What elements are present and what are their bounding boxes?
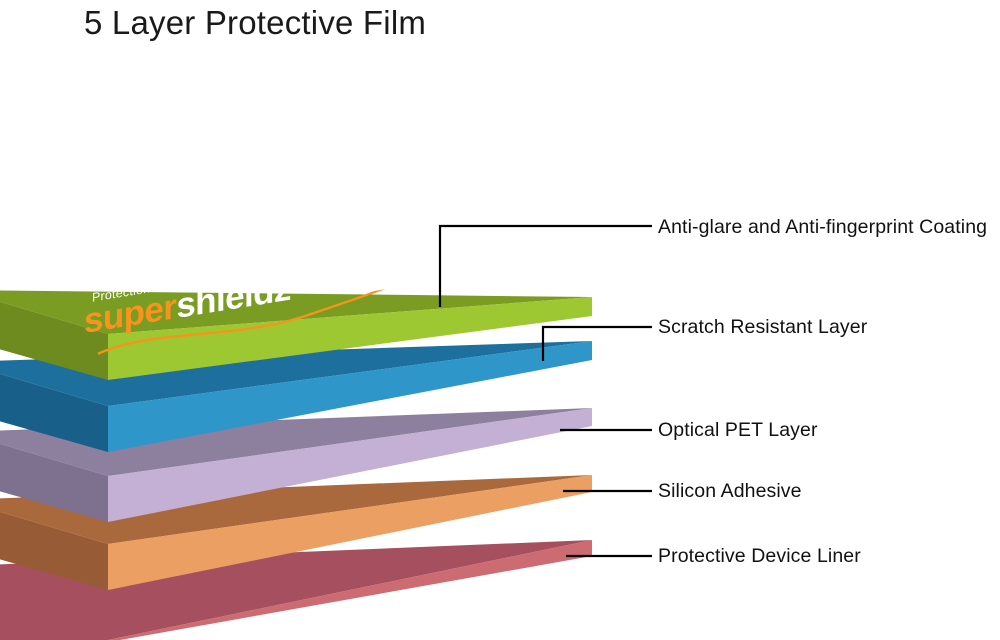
page-title: 5 Layer Protective Film <box>84 4 426 42</box>
diagram-canvas: 5 Layer Protective Film Protection Profe… <box>0 0 1000 640</box>
leader-line-1 <box>440 226 652 307</box>
label-silicon-adhesive: Silicon Adhesive <box>658 480 802 503</box>
label-scratch-resistant: Scratch Resistant Layer <box>658 316 867 339</box>
label-protective-device-liner: Protective Device Liner <box>658 545 861 568</box>
label-optical-pet: Optical PET Layer <box>658 419 818 442</box>
label-anti-glare-coating: Anti-glare and Anti-fingerprint Coating <box>658 216 987 239</box>
